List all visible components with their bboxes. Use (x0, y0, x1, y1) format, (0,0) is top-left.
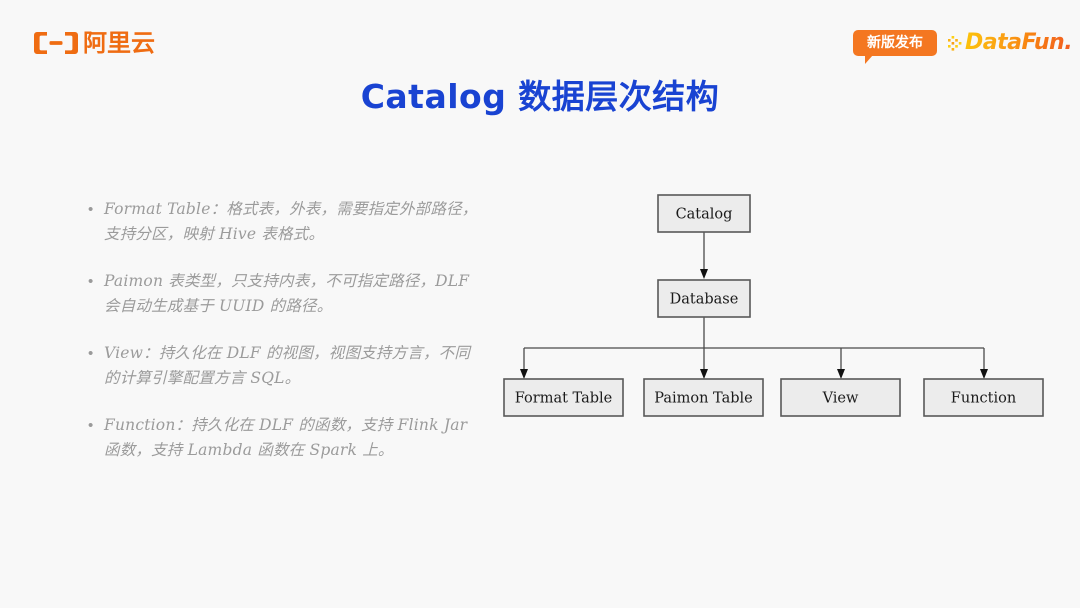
edge-bus-paimon-table (700, 348, 708, 379)
diagram-node-database[interactable]: Database (658, 280, 750, 317)
diagram-node-label: Database (670, 292, 739, 308)
catalog-hierarchy-diagram: Catalog Database Format Table Paimon Tab… (480, 180, 1080, 425)
edge-bus-format-table (520, 348, 528, 379)
edge-bus-function (980, 348, 988, 379)
diagram-node-paimon-table[interactable]: Paimon Table (644, 379, 763, 416)
alibaba-cloud-bracket-icon (34, 30, 78, 56)
bullet-marker-icon: • (88, 197, 104, 222)
alibaba-cloud-logo-text: 阿里云 (83, 30, 155, 56)
list-item-text: Format Table：格式表，外表，需要指定外部路径，支持分区，映射 Hiv… (104, 197, 478, 247)
list-item: • Paimon 表类型，只支持内表，不可指定路径，DLF 会自动生成基于 UU… (88, 269, 478, 319)
release-badge: 新版发布 (853, 30, 937, 56)
diagram-node-label: View (822, 391, 859, 407)
bullet-marker-icon: • (88, 269, 104, 294)
list-item: • Function：持久化在 DLF 的函数，支持 Flink Jar 函数，… (88, 413, 478, 463)
edge-catalog-database (700, 232, 708, 279)
datafun-dots-icon (948, 36, 964, 52)
diagram-node-label: Paimon Table (654, 391, 753, 407)
list-item-text: Paimon 表类型，只支持内表，不可指定路径，DLF 会自动生成基于 UUID… (104, 269, 478, 319)
alibaba-cloud-logo: 阿里云 (34, 28, 155, 58)
list-item-text: Function：持久化在 DLF 的函数，支持 Flink Jar 函数，支持… (104, 413, 478, 463)
list-item-text: View：持久化在 DLF 的视图，视图支持方言，不同的计算引擎配置方言 SQL… (104, 341, 478, 391)
release-badge-label: 新版发布 (867, 36, 923, 50)
diagram-node-label: Catalog (676, 207, 733, 223)
bullet-list: • Format Table：格式表，外表，需要指定外部路径，支持分区，映射 H… (88, 197, 478, 485)
slide-canvas: 阿里云 新版发布 DataFun. Catalog 数据层次结构 • Forma… (0, 0, 1080, 608)
bullet-marker-icon: • (88, 413, 104, 438)
diagram-node-format-table[interactable]: Format Table (504, 379, 623, 416)
diagram-node-label: Format Table (515, 391, 612, 407)
list-item: • Format Table：格式表，外表，需要指定外部路径，支持分区，映射 H… (88, 197, 478, 247)
diagram-node-function[interactable]: Function (924, 379, 1043, 416)
page-title: Catalog 数据层次结构 (0, 70, 1080, 118)
diagram-node-view[interactable]: View (781, 379, 900, 416)
diagram-node-label: Function (951, 391, 1016, 407)
diagram-node-catalog[interactable]: Catalog (658, 195, 750, 232)
list-item: • View：持久化在 DLF 的视图，视图支持方言，不同的计算引擎配置方言 S… (88, 341, 478, 391)
datafun-logo-text: DataFun. (965, 32, 1072, 54)
bullet-marker-icon: • (88, 341, 104, 366)
edge-bus-view (837, 348, 845, 379)
datafun-logo: DataFun. (948, 30, 1072, 56)
